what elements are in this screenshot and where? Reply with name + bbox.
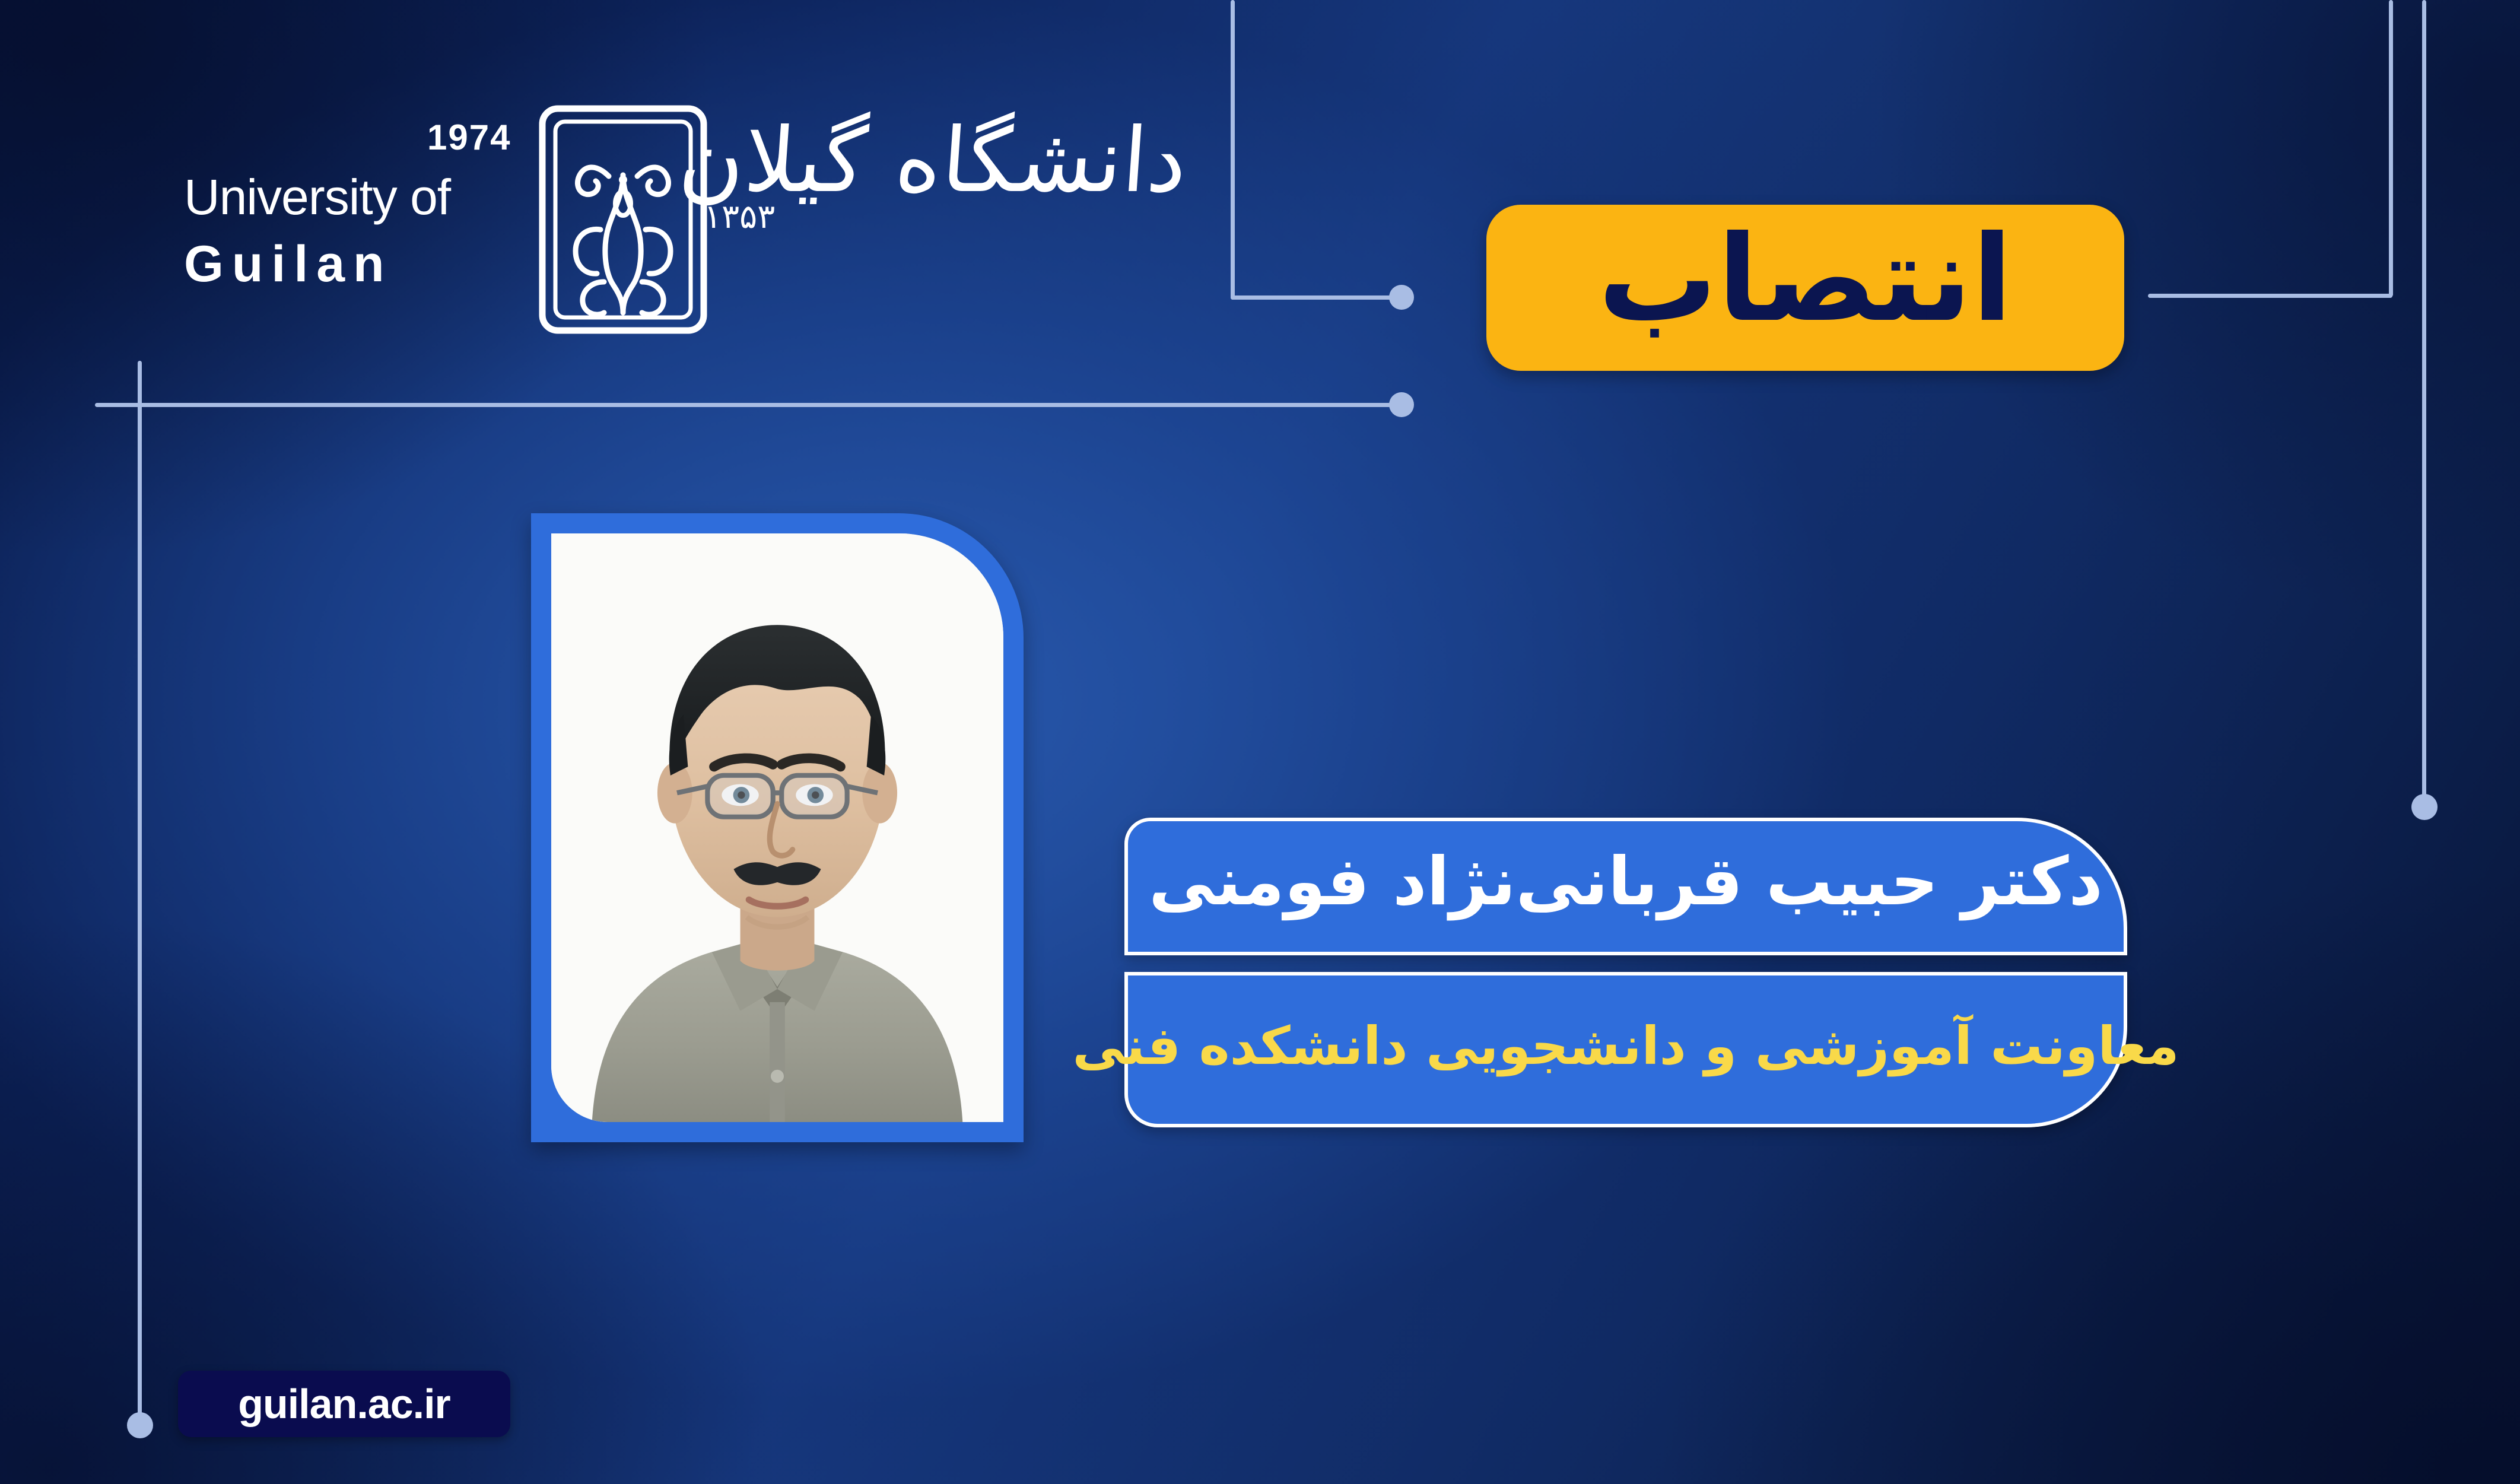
logo-english-text: University of Guilan <box>184 172 516 290</box>
person-role: معاونت آموزشی و دانشجویی دانشکده فنی <box>1072 1020 2179 1072</box>
portrait-photo <box>551 533 1003 1122</box>
appointment-badge: انتصاب <box>1486 205 2124 371</box>
decor-dot-right <box>2411 794 2438 820</box>
decor-dot-upper-right <box>1389 285 1414 310</box>
person-name-banner: دکتر حبیب قربانی‌نژاد فومنی <box>1124 818 2127 955</box>
decor-line-horizontal-upper <box>1231 295 1400 300</box>
logo-founding-year-persian: ۱۳۵۳ <box>704 198 775 236</box>
decor-line-vertical-right-outer <box>2422 0 2426 804</box>
website-url: guilan.ac.ir <box>238 1380 450 1428</box>
decor-dot-left-bottom <box>127 1412 153 1438</box>
logo-persian-text: دانشگاه گیلان ۱۳۵۳ <box>700 110 1187 335</box>
website-badge[interactable]: guilan.ac.ir <box>178 1371 510 1437</box>
person-role-banner: معاونت آموزشی و دانشجویی دانشکده فنی <box>1124 972 2127 1127</box>
appointment-badge-label: انتصاب <box>1598 220 2012 339</box>
logo-english-line2: Guilan <box>184 239 516 290</box>
logo-persian-name: دانشگاه گیلان <box>697 110 1190 212</box>
appointment-poster: 1974 University of Guilan <box>0 0 2520 1484</box>
logo-english-line1: University of <box>184 172 516 222</box>
logo-founding-year-gregorian: 1974 <box>427 117 511 158</box>
decor-line-horizontal-right <box>2148 294 2392 298</box>
decor-dot-logo-line <box>1389 392 1414 417</box>
portrait-frame <box>531 513 1024 1142</box>
decor-line-vertical-left <box>138 361 142 1423</box>
person-name: دکتر حبیب قربانی‌نژاد فومنی <box>1149 849 2103 915</box>
university-logo: 1974 University of Guilan <box>178 128 1222 365</box>
decor-line-vertical-right-inner <box>2389 0 2393 297</box>
decor-line-vertical-top-center <box>1231 0 1235 300</box>
decor-line-horizontal-logo <box>95 403 1400 407</box>
